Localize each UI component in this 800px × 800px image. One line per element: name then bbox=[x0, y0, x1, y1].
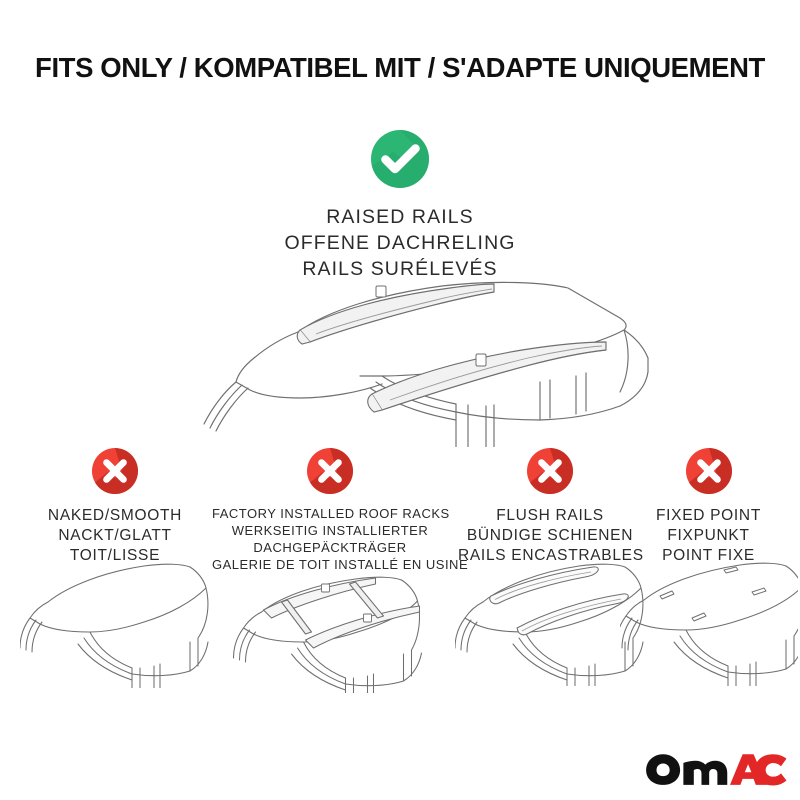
check-circle-icon bbox=[371, 130, 429, 188]
omac-logo bbox=[645, 752, 788, 786]
item-label-de: FIXPUNKT bbox=[636, 526, 781, 546]
not-compatible-item-flush-rails: FLUSH RAILS BÜNDIGE SCHIENEN RAILS ENCAS… bbox=[458, 448, 642, 566]
not-compatible-item-naked-smooth: NAKED/SMOOTH NACKT/GLATT TOIT/LISSE bbox=[25, 448, 205, 566]
car-roof-fixed-point-illustration bbox=[620, 556, 798, 686]
item-label-en: FIXED POINT bbox=[636, 506, 781, 526]
item-label-de: NACKT/GLATT bbox=[25, 526, 205, 546]
compatible-section: RAISED RAILS OFFENE DACHRELING RAILS SUR… bbox=[200, 130, 600, 282]
item-label-de-1: WERKSEITIG INSTALLIERTER bbox=[212, 523, 448, 540]
item-label-en: FLUSH RAILS bbox=[458, 506, 642, 526]
compatible-labels: RAISED RAILS OFFENE DACHRELING RAILS SUR… bbox=[200, 204, 600, 282]
x-circle-icon bbox=[307, 448, 353, 494]
x-circle-icon bbox=[527, 448, 573, 494]
item-label-de: BÜNDIGE SCHIENEN bbox=[458, 526, 642, 546]
car-roof-factory-racks-illustration bbox=[228, 568, 433, 693]
item-labels: FACTORY INSTALLED ROOF RACKS WERKSEITIG … bbox=[212, 506, 448, 574]
page-title: FITS ONLY / KOMPATIBEL MIT / S'ADAPTE UN… bbox=[0, 52, 800, 84]
car-roof-flush-rails-illustration bbox=[455, 556, 645, 686]
item-label-de-2: DACHGEPÄCKTRÄGER bbox=[212, 540, 448, 557]
not-compatible-item-fixed-point: FIXED POINT FIXPUNKT POINT FIXE bbox=[636, 448, 781, 566]
item-label-en: FACTORY INSTALLED ROOF RACKS bbox=[212, 506, 448, 523]
compatible-label-en: RAISED RAILS bbox=[200, 204, 600, 230]
car-roof-naked-illustration bbox=[20, 556, 210, 688]
item-label-en: NAKED/SMOOTH bbox=[25, 506, 205, 526]
x-circle-icon bbox=[686, 448, 732, 494]
not-compatible-section: NAKED/SMOOTH NACKT/GLATT TOIT/LISSE bbox=[0, 448, 800, 698]
x-circle-icon bbox=[92, 448, 138, 494]
not-compatible-item-factory-racks: FACTORY INSTALLED ROOF RACKS WERKSEITIG … bbox=[212, 448, 448, 574]
compatible-label-de: OFFENE DACHRELING bbox=[200, 230, 600, 256]
car-roof-raised-rails-illustration bbox=[150, 272, 670, 447]
